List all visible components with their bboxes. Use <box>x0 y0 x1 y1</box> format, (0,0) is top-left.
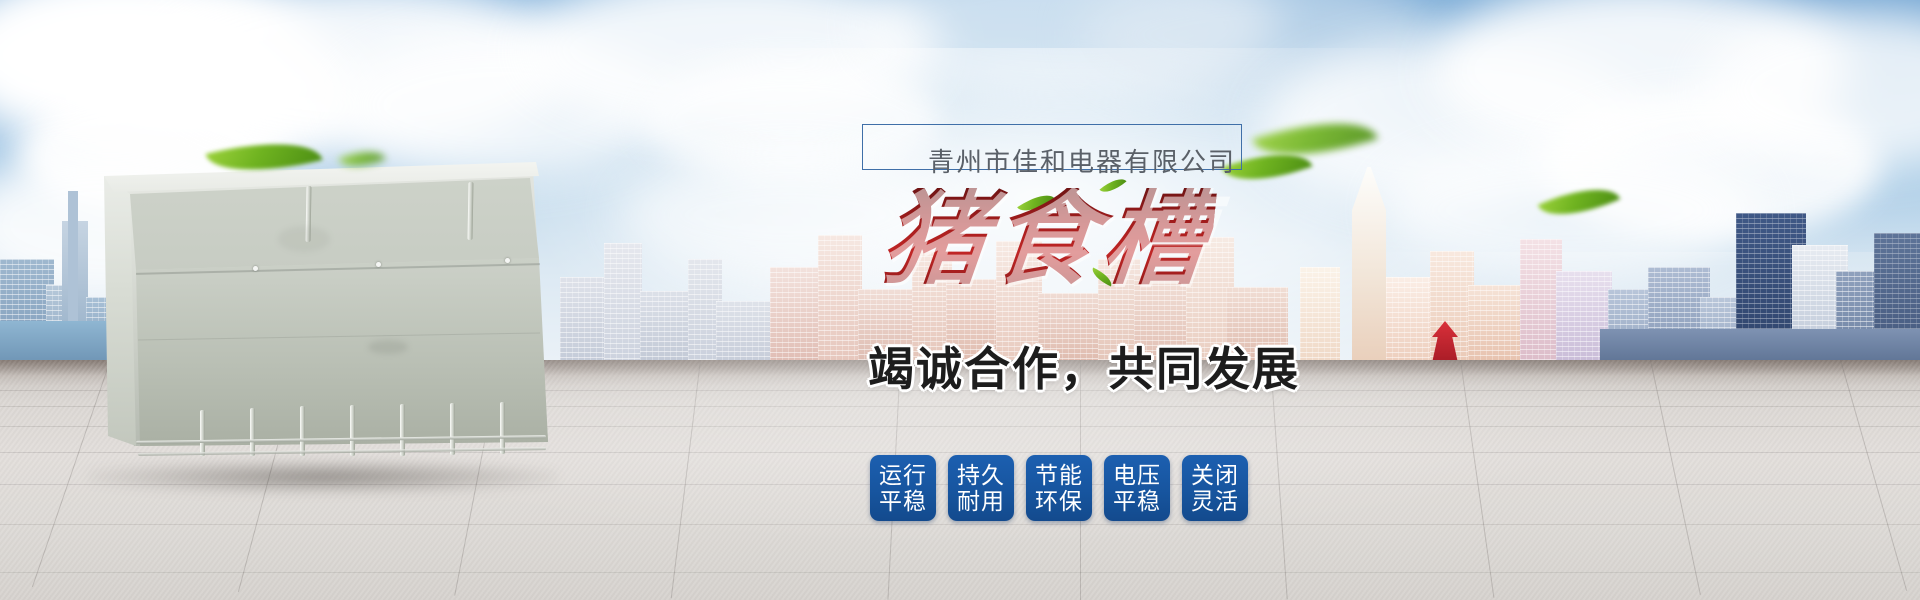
trough-divider-bar <box>350 405 355 456</box>
company-name: 青州市佳和电器有限公司 <box>928 142 1236 179</box>
sub-title: 竭诚合作，共同发展 <box>868 346 1300 392</box>
feature-badge[interactable]: 关闭 灵活 <box>1182 455 1248 521</box>
banner-text-block: 青州市佳和电器有限公司 猪食槽 猪食槽 竭诚合作，共同发展 运行 平稳 持久 耐… <box>860 110 1380 170</box>
badge-line-1: 电压 <box>1113 462 1161 488</box>
trough-rivet <box>253 266 258 271</box>
main-title: 猪食槽 <box>877 188 1218 292</box>
badge-line-2: 灵活 <box>1191 488 1239 514</box>
badge-line-2: 平稳 <box>1113 488 1161 514</box>
trough-rim-support <box>467 182 473 240</box>
trough-divider-bar <box>500 402 505 454</box>
trough-divider-bar <box>300 406 305 456</box>
badge-line-2: 环保 <box>1035 488 1083 514</box>
badge-line-1: 运行 <box>879 462 927 488</box>
trough-rivet <box>376 262 381 267</box>
feature-badge[interactable]: 持久 耐用 <box>948 455 1014 521</box>
product-shadow <box>88 460 558 494</box>
product-image-pig-feeder-trough <box>78 150 558 480</box>
trough-rivet <box>505 258 510 263</box>
badge-line-1: 关闭 <box>1191 462 1239 488</box>
badge-line-2: 耐用 <box>957 488 1005 514</box>
trough-divider-bar <box>200 410 205 456</box>
promo-banner: 青州市佳和电器有限公司 猪食槽 猪食槽 竭诚合作，共同发展 运行 平稳 持久 耐… <box>0 0 1920 600</box>
badge-line-1: 节能 <box>1035 462 1083 488</box>
trough-divider-bar <box>250 408 255 456</box>
feature-badge-list: 运行 平稳 持久 耐用 节能 环保 电压 平稳 关闭 灵活 <box>870 455 1248 521</box>
company-name-frame: 青州市佳和电器有限公司 <box>860 110 1380 170</box>
trough-smudge <box>278 226 330 252</box>
feature-badge[interactable]: 节能 环保 <box>1026 455 1092 521</box>
badge-line-1: 持久 <box>957 462 1005 488</box>
trough-smudge <box>368 340 408 354</box>
trough-divider-bar <box>450 403 455 455</box>
feature-badge[interactable]: 电压 平稳 <box>1104 455 1170 521</box>
badge-line-2: 平稳 <box>879 488 927 514</box>
feature-badge[interactable]: 运行 平稳 <box>870 455 936 521</box>
